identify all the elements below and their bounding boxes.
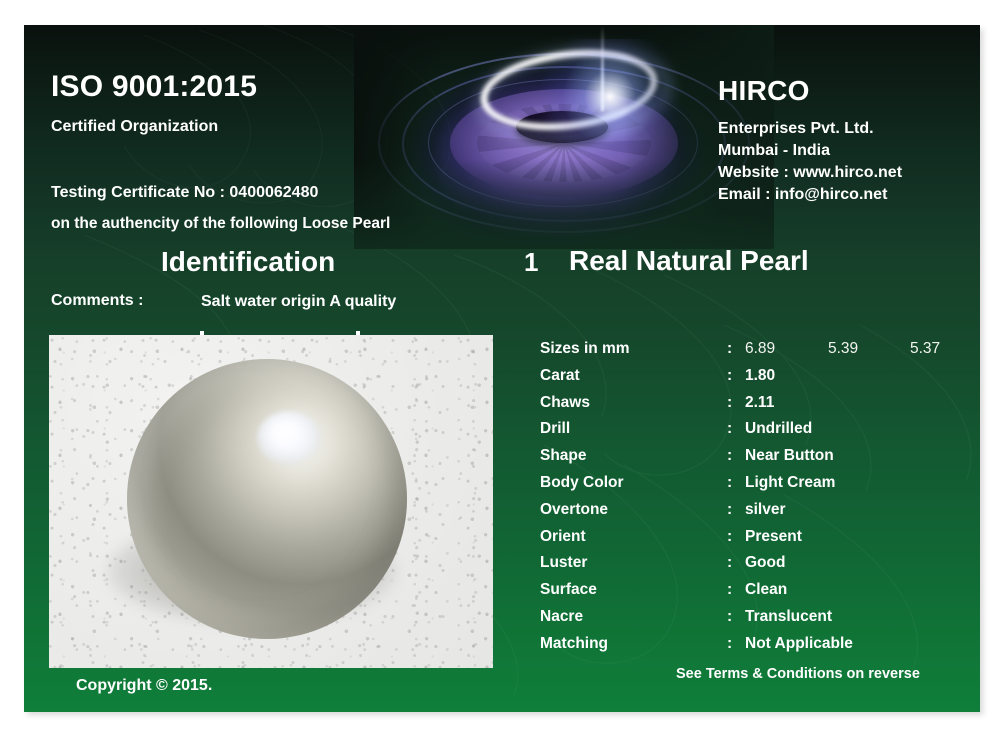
spec-value: Present — [745, 528, 802, 546]
iso-subtitle: Certified Organization — [51, 118, 218, 136]
iso-title: ISO 9001:2015 — [51, 70, 257, 104]
spec-value-third: 5.37 — [910, 340, 940, 358]
pearl-rim-light — [127, 359, 407, 639]
spec-value: Good — [745, 554, 785, 572]
spec-label: Nacre — [540, 608, 583, 626]
emblem-spark-ray — [601, 25, 604, 111]
emblem-glow — [354, 25, 774, 249]
spec-label: Drill — [540, 420, 570, 438]
emblem-stone-disc — [450, 89, 678, 197]
spec-value: 6.89 — [745, 340, 775, 358]
spec-label: Luster — [540, 554, 587, 572]
spec-label: Matching — [540, 635, 608, 653]
spec-row: Body Color:Light Cream — [540, 474, 970, 501]
terms-and-conditions-note: See Terms & Conditions on reverse — [676, 666, 920, 682]
spec-colon: : — [727, 394, 732, 412]
spec-row: Carat:1.80 — [540, 367, 970, 394]
spec-colon: : — [727, 581, 732, 599]
spec-label: Chaws — [540, 394, 590, 412]
spec-value: Undrilled — [745, 420, 812, 438]
spec-value: 2.11 — [745, 394, 774, 412]
spec-label: Overtone — [540, 501, 608, 519]
emblem-ring-mid — [402, 66, 726, 222]
spec-value-second: 5.39 — [828, 340, 858, 358]
spec-colon: : — [727, 447, 732, 465]
pearl-highlight — [257, 411, 321, 465]
emblem-ring-inner — [428, 79, 698, 207]
company-details: Enterprises Pvt. Ltd. Mumbai - India Web… — [718, 118, 902, 206]
spec-colon: : — [727, 420, 732, 438]
spec-row: Sizes in mm:6.895.395.37 — [540, 340, 970, 367]
spec-row: Overtone:silver — [540, 501, 970, 528]
spec-row: Shape:Near Button — [540, 447, 970, 474]
emblem-fade-bottom — [354, 159, 774, 249]
spec-row: Surface:Clean — [540, 581, 970, 608]
testing-certificate-number: Testing Certificate No : 0400062480 — [51, 184, 318, 202]
spec-colon: : — [727, 340, 732, 358]
spec-colon: : — [727, 528, 732, 546]
spec-value: Not Applicable — [745, 635, 853, 653]
emblem-halo-ring — [476, 40, 662, 139]
comments-value: Salt water origin A quality — [201, 293, 396, 311]
spec-label: Shape — [540, 447, 587, 465]
spec-colon: : — [727, 474, 732, 492]
spec-colon: : — [727, 367, 732, 385]
spec-row: Matching:Not Applicable — [540, 635, 970, 662]
authenticity-statement: on the authencity of the following Loose… — [51, 215, 390, 233]
spec-row: Nacre:Translucent — [540, 608, 970, 635]
certificate-card: ISO 9001:2015 Certified Organization Tes… — [24, 25, 980, 712]
company-name: HIRCO — [718, 75, 810, 107]
copyright-notice: Copyright © 2015. — [76, 677, 212, 695]
spec-colon: : — [727, 501, 732, 519]
spec-label: Carat — [540, 367, 580, 385]
spec-label: Orient — [540, 528, 586, 546]
spec-label: Sizes in mm — [540, 340, 630, 358]
spec-value: 1.80 — [745, 367, 775, 385]
specifications-table: Sizes in mm:6.895.395.37Carat:1.80Chaws:… — [540, 340, 970, 662]
spec-label: Surface — [540, 581, 597, 599]
certificate-page: ISO 9001:2015 Certified Organization Tes… — [0, 0, 1004, 739]
emblem-center-puck — [516, 111, 608, 143]
spec-value: silver — [745, 501, 786, 519]
spec-label: Body Color — [540, 474, 624, 492]
spec-value: Translucent — [745, 608, 832, 626]
identification-heading: Identification — [161, 246, 335, 278]
spec-row: Luster:Good — [540, 554, 970, 581]
comments-label: Comments : — [51, 292, 143, 310]
spec-value: Near Button — [745, 447, 834, 465]
item-name: Real Natural Pearl — [569, 245, 809, 277]
spec-colon: : — [727, 608, 732, 626]
spec-row: Orient:Present — [540, 528, 970, 555]
emblem-halo-glow — [469, 35, 679, 155]
spec-row: Chaws:2.11 — [540, 394, 970, 421]
spec-row: Drill:Undrilled — [540, 420, 970, 447]
spec-value: Clean — [745, 581, 787, 599]
emblem-ring-outer — [378, 53, 750, 233]
spec-colon: : — [727, 554, 732, 572]
spec-value: Light Cream — [745, 474, 835, 492]
item-number: 1 — [524, 247, 538, 278]
spec-colon: : — [727, 635, 732, 653]
pearl-photograph — [49, 335, 493, 668]
magic-circle-emblem-icon — [354, 25, 774, 249]
emblem-spark-icon — [532, 39, 682, 159]
